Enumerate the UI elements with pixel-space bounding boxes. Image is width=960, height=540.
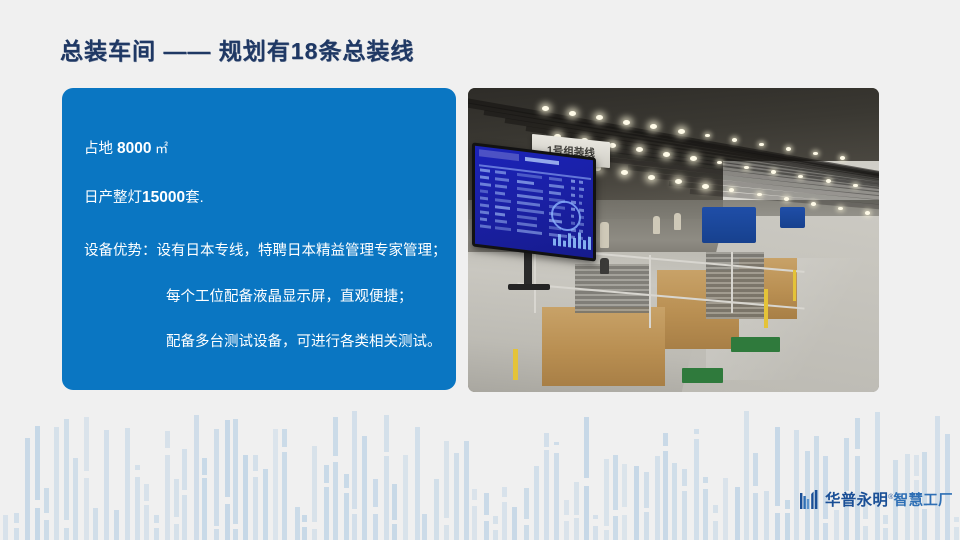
barcode-bar-gap xyxy=(914,476,919,480)
barcode-bar xyxy=(794,430,799,540)
dashboard-cell xyxy=(480,196,488,199)
photo-ceiling-light xyxy=(826,179,831,183)
photo-ceiling-light xyxy=(811,202,816,206)
barcode-bar xyxy=(554,442,559,540)
photo-safety-post xyxy=(513,349,518,379)
photo-ceiling-light xyxy=(678,129,685,134)
photo-ceiling-light xyxy=(744,166,749,170)
barcode-bar xyxy=(574,482,579,540)
barcode-bar xyxy=(834,510,839,540)
barcode-bar xyxy=(84,417,89,540)
barcode-bar-gap xyxy=(502,497,507,502)
photo-ceiling-light xyxy=(702,184,709,189)
barcode-bar xyxy=(194,415,199,540)
barcode-bar-gap xyxy=(253,471,258,477)
dashboard-cell xyxy=(549,184,564,188)
barcode-bar xyxy=(634,466,639,540)
barcode-bar xyxy=(534,466,539,540)
photo-worker xyxy=(600,222,609,248)
photo-guard-panel xyxy=(542,307,665,386)
barcode-bar xyxy=(282,429,287,540)
barcode-bar xyxy=(35,426,40,540)
dashboard-bar xyxy=(553,238,556,245)
dashboard-cell xyxy=(579,195,583,198)
dashboard-cell xyxy=(579,181,583,184)
barcode-bar-gap xyxy=(622,507,627,515)
barcode-bar xyxy=(694,429,699,540)
barcode-bar-gap xyxy=(883,524,888,528)
dashboard-cell xyxy=(480,182,491,186)
barcode-bar xyxy=(422,514,427,540)
barcode-bar-gap xyxy=(44,513,49,520)
output-label: 日产整灯 xyxy=(84,190,142,206)
dashboard-cell xyxy=(517,222,537,227)
dashboard-cell xyxy=(495,219,507,223)
barcode-bar xyxy=(434,479,439,540)
barcode-bar xyxy=(464,441,469,540)
photo-ceiling-light xyxy=(786,147,791,151)
barcode-bar-gap xyxy=(373,507,378,514)
dashboard-cell xyxy=(571,194,575,197)
photo-green-crate xyxy=(731,337,780,352)
barcode-bar-gap xyxy=(713,513,718,521)
barcode-bar-gap xyxy=(663,446,668,451)
barcode-bar xyxy=(622,464,627,540)
barcode-bar xyxy=(144,484,149,540)
photo-ceiling-light xyxy=(621,170,628,175)
photo-ceiling-light xyxy=(663,152,670,157)
barcode-bar xyxy=(415,427,420,540)
barcode-bar-gap xyxy=(333,456,338,462)
barcode-bar-gap xyxy=(174,517,179,524)
barcode-bar xyxy=(775,427,780,540)
dashboard-bar xyxy=(563,241,566,247)
monitor-base xyxy=(508,284,550,290)
barcode-bar-gap xyxy=(644,508,649,512)
barcode-bar-gap xyxy=(564,515,569,521)
barcode-bar xyxy=(202,458,207,540)
barcode-bar-gap xyxy=(544,447,549,450)
barcode-bar xyxy=(785,500,790,540)
info-panel: 占地 8000 ㎡ 日产整灯15000套. 设备优势：设有日本专线，特聘日本精益… xyxy=(62,88,456,390)
dashboard-cell xyxy=(549,177,562,181)
dashboard-bar xyxy=(583,240,586,249)
photo-railing-post xyxy=(649,255,651,328)
barcode-bar xyxy=(512,507,517,540)
production-dashboard-monitor xyxy=(472,142,596,261)
info-line-area: 占地 8000 ㎡ xyxy=(84,140,438,159)
barcode-bar-gap xyxy=(484,515,489,521)
barcode-bar-gap xyxy=(775,506,780,513)
barcode-bar xyxy=(935,416,940,540)
barcode-bar-gap xyxy=(14,523,19,528)
barcode-bar xyxy=(295,507,300,540)
photo-green-crate xyxy=(682,368,723,383)
barcode-bar-gap xyxy=(233,524,238,529)
barcode-bar-gap xyxy=(954,522,959,527)
dashboard-logo-block xyxy=(479,149,519,161)
photo-blue-equipment xyxy=(780,207,805,228)
barcode-bar xyxy=(352,411,357,540)
dashboard-cell xyxy=(480,168,490,172)
barcode-bar xyxy=(723,478,728,540)
barcode-bar xyxy=(333,417,338,540)
dashboard-cell xyxy=(517,173,542,179)
barcode-bar-gap xyxy=(593,519,598,526)
barcode-bar-gap xyxy=(35,500,40,508)
dashboard-cell xyxy=(495,212,505,216)
barcode-bar-gap xyxy=(444,518,449,525)
barcode-bar-gap xyxy=(785,509,790,513)
dashboard-cell xyxy=(517,180,534,185)
photo-worker xyxy=(674,213,681,230)
barcode-bar xyxy=(644,472,649,540)
barcode-bar-gap xyxy=(214,526,219,529)
barcode-bar xyxy=(362,436,367,540)
dashboard-cell xyxy=(495,198,511,202)
barcode-bar xyxy=(753,453,758,540)
photo-ceiling-light xyxy=(853,184,858,188)
dashboard-cell xyxy=(480,189,488,192)
area-label: 占地 xyxy=(84,141,117,157)
info-line-output: 日产整灯15000套. xyxy=(84,189,438,208)
barcode-bar xyxy=(655,456,660,540)
barcode-bar xyxy=(713,505,718,540)
barcode-bar xyxy=(302,515,307,540)
barcode-bar-gap xyxy=(182,490,187,495)
dashboard-cell xyxy=(517,187,543,193)
dashboard-cell xyxy=(549,191,561,195)
dashboard-cell xyxy=(480,203,489,207)
barcode-bar-gap xyxy=(154,523,159,528)
barcode-bar xyxy=(243,455,248,540)
photo-railing-post xyxy=(534,246,536,313)
barcode-bar-gap xyxy=(823,519,828,523)
brand-sub-name: 智慧工厂 xyxy=(894,489,953,510)
dashboard-cell xyxy=(579,188,584,191)
barcode-bar-gap xyxy=(554,445,559,453)
barcode-bar xyxy=(502,487,507,540)
barcode-bar xyxy=(764,491,769,540)
barcode-bar xyxy=(444,441,449,540)
dashboard-cell xyxy=(480,175,489,179)
photo-ceiling-light xyxy=(838,207,843,211)
dashboard-cell xyxy=(579,202,582,205)
brand-name: 华普永明® xyxy=(825,488,894,510)
barcode-bar-gap xyxy=(493,524,498,530)
photo-safety-post xyxy=(764,289,768,329)
barcode-bar-gap xyxy=(302,522,307,527)
barcode-bar xyxy=(613,455,618,540)
photo-blue-equipment xyxy=(702,207,755,243)
barcode-bar-gap xyxy=(753,486,758,493)
barcode-bar-gap xyxy=(344,488,349,493)
barcode-bar-gap xyxy=(613,510,618,516)
barcode-bar xyxy=(214,429,219,540)
dashboard-screen xyxy=(475,146,593,258)
barcode-bar xyxy=(93,508,98,540)
barcode-bar xyxy=(273,429,278,540)
dashboard-cell xyxy=(571,187,575,190)
barcode-bar-gap xyxy=(604,526,609,530)
barcode-bar-gap xyxy=(682,486,687,491)
slide-canvas: 总装车间 —— 规划有18条总装线 占地 8000 ㎡ 日产整灯15000套. … xyxy=(0,0,960,540)
dashboard-bar xyxy=(558,234,561,246)
barcode-bar-gap xyxy=(703,483,708,489)
barcode-bar-gap xyxy=(392,520,397,524)
barcode-bar xyxy=(263,469,268,540)
area-unit: ㎡ xyxy=(152,141,169,156)
dashboard-cell xyxy=(495,205,510,209)
info-line-advantage-3: 配备多台测试设备，可进行各类相关测试。 xyxy=(84,334,438,351)
barcode-bar-gap xyxy=(225,497,230,504)
photo-ceiling-light xyxy=(705,134,710,138)
dashboard-bar xyxy=(573,238,576,248)
dashboard-cell xyxy=(480,217,487,220)
dashboard-bar xyxy=(588,237,591,250)
barcode-bar-gap xyxy=(694,434,699,439)
photo-ceiling-light xyxy=(757,193,762,197)
barcode-bar-gap xyxy=(135,470,140,477)
dashboard-cell xyxy=(480,224,491,228)
barcode-bar xyxy=(104,430,109,540)
barcode-bar xyxy=(384,415,389,540)
area-value: 8000 xyxy=(117,140,151,157)
barcode-bar-gap xyxy=(855,449,860,456)
barcode-bar xyxy=(125,428,130,540)
dashboard-cell xyxy=(571,180,575,183)
barcode-bar xyxy=(672,463,677,540)
barcode-bar xyxy=(855,418,860,540)
photo-ceiling-light xyxy=(732,138,737,142)
barcode-bar xyxy=(233,419,238,540)
page-title: 总装车间 —— 规划有18条总装线 xyxy=(60,32,414,66)
photo-ceiling-light xyxy=(771,170,776,174)
dashboard-cell xyxy=(517,215,537,220)
dashboard-cell xyxy=(495,226,511,230)
barcode-bar xyxy=(324,465,329,540)
photo-worker-lower xyxy=(600,258,609,274)
monitor-stand xyxy=(524,252,532,286)
barcode-bar xyxy=(524,488,529,540)
barcode-bar-gap xyxy=(524,519,529,525)
barcode-bar xyxy=(682,469,687,540)
barcode-bar-gap xyxy=(202,475,207,478)
barcode-bar xyxy=(392,484,397,540)
barcode-bar-gap xyxy=(472,500,477,506)
barcode-bar-gap xyxy=(352,509,357,514)
dashboard-bar xyxy=(568,233,571,247)
dashboard-bar xyxy=(578,232,581,248)
barcode-bar xyxy=(875,412,880,540)
barcode-bar-gap xyxy=(384,452,389,456)
barcode-bar xyxy=(225,420,230,540)
dashboard-cell xyxy=(495,177,509,181)
barcode-bar-gap xyxy=(324,483,329,487)
dashboard-title-block xyxy=(525,157,559,165)
dashboard-cell xyxy=(517,208,544,214)
barcode-bar-gap xyxy=(165,448,170,455)
dashboard-cell xyxy=(517,201,540,206)
barcode-bar xyxy=(25,438,30,540)
barcode-bar-gap xyxy=(144,501,149,505)
barcode-bar xyxy=(3,515,8,540)
barcode-bar xyxy=(403,455,408,540)
workshop-photo: 1号组装线 xyxy=(468,88,879,392)
barcode-bar xyxy=(73,458,78,540)
barcode-bar xyxy=(744,411,749,540)
barcode-bar-gap xyxy=(863,519,868,526)
barcode-bar xyxy=(472,489,477,540)
output-value: 15000 xyxy=(142,189,185,206)
info-line-advantage-2: 每个工位配备液晶显示屏，直观便捷； xyxy=(84,289,438,306)
barcode-bar xyxy=(954,517,959,540)
barcode-bar xyxy=(454,453,459,540)
photo-ceiling-light xyxy=(865,211,870,215)
dashboard-cell xyxy=(517,229,542,235)
dashboard-cell xyxy=(495,184,507,188)
dashboard-cell xyxy=(480,210,489,214)
brand-logo: 华普永明® 智慧工厂 xyxy=(800,487,953,511)
barcode-bar xyxy=(54,427,59,540)
barcode-bar xyxy=(253,455,258,540)
barcode-decoration xyxy=(0,405,960,540)
dashboard-cell xyxy=(517,194,543,200)
barcode-bar-gap xyxy=(312,522,317,529)
barcode-bar xyxy=(735,487,740,540)
barcode-bar xyxy=(174,479,179,540)
dashboard-cell xyxy=(495,170,506,174)
output-unit: 套. xyxy=(185,190,204,206)
barcode-bar xyxy=(344,474,349,540)
barcode-bar-gap xyxy=(584,478,589,486)
dashboard-cell xyxy=(495,191,505,195)
factory-logo-icon xyxy=(800,490,820,509)
info-line-advantage-1: 设备优势：设有日本专线，特聘日本精益管理专家管理； xyxy=(84,243,438,260)
photo-ceiling-light xyxy=(569,111,576,116)
photo-railing-post xyxy=(731,252,733,313)
barcode-bar xyxy=(114,510,119,540)
photo-worker xyxy=(653,216,660,234)
photo-ceiling-light xyxy=(784,197,789,201)
photo-safety-post xyxy=(793,270,796,300)
photo-ceiling-light xyxy=(648,175,655,180)
barcode-bar-gap xyxy=(574,515,579,518)
barcode-bar-gap xyxy=(84,471,89,478)
barcode-bar-gap xyxy=(282,447,287,452)
brand-name-text: 华普永明 xyxy=(825,492,888,509)
barcode-bar-gap xyxy=(64,520,69,528)
